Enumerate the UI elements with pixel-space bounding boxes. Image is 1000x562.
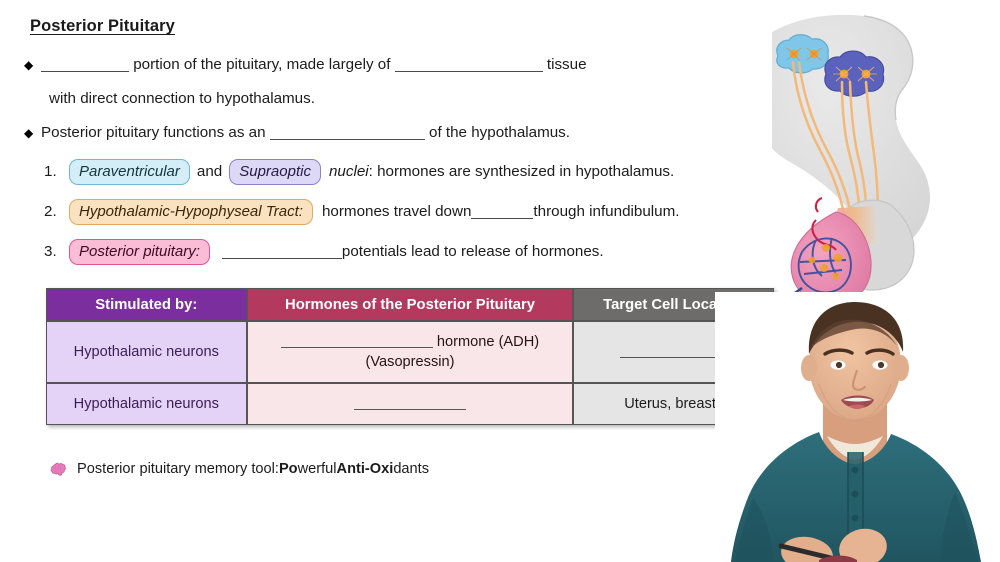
hormone-suffix: hormone (ADH) (433, 334, 539, 350)
blank-line (270, 127, 425, 140)
memory-tool-plain-1: werful (298, 461, 337, 477)
cell-stimulated-by: Hypothalamic neurons (46, 383, 247, 425)
numbered-1-tail: : hormones are synthesized in hypothalam… (369, 155, 675, 189)
bullet-1-mid: portion of the pituitary, made largely o… (129, 56, 395, 73)
page-title: Posterior Pituitary (30, 17, 175, 36)
memory-tool-bold-2: Anti-Oxi (337, 461, 394, 477)
bullet-2-text: Posterior pituitary functions as an of t… (41, 116, 784, 150)
numbered-item-1: 1. Paraventricular and Supraoptic nuclei… (24, 152, 784, 192)
joiner-and: and (197, 155, 222, 189)
bullet-1-line2: with direct connection to hypothalamus. (49, 90, 315, 107)
diamond-bullet-icon: ◆ (24, 48, 41, 82)
table-header-hormones: Hormones of the Posterior Pituitary (247, 288, 574, 321)
memory-tool-line: Posterior pituitary memory tool: Po werf… (50, 461, 429, 477)
bullet-1-continuation: with direct connection to hypothalamus. (24, 82, 784, 116)
italic-nuclei: nuclei (329, 155, 369, 189)
pill-hypothalamic-hypophyseal-tract: Hypothalamic-Hypophyseal Tract: (69, 199, 313, 225)
bullet-item-1: ◆ portion of the pituitary, made largely… (24, 48, 784, 82)
blank-line (354, 398, 466, 410)
list-index: 2. (44, 195, 69, 229)
bullet-2-pre: Posterior pituitary functions as an (41, 124, 270, 141)
table-header-row: Stimulated by: Hormones of the Posterior… (46, 288, 774, 321)
paraventricular-nucleus (777, 35, 829, 73)
pill-paraventricular: Paraventricular (69, 159, 190, 185)
bullet-1-post: tissue (543, 56, 587, 73)
instructor-video (715, 292, 1000, 562)
numbered-list: 1. Paraventricular and Supraoptic nuclei… (24, 152, 784, 272)
diamond-bullet-icon: ◆ (24, 116, 41, 150)
numbered-item-3: 3. Posterior pituitary: potentials lead … (24, 232, 784, 272)
blank-line (222, 246, 342, 259)
blank-line (395, 59, 543, 72)
supraoptic-nucleus (825, 51, 884, 96)
hormone-second-line: (Vasopressin) (366, 354, 455, 370)
memory-tool-bold-1: Po (279, 461, 298, 477)
blank-line (471, 206, 533, 219)
numbered-2-tail-post: through infundibulum. (533, 195, 679, 229)
list-index: 1. (44, 155, 69, 189)
blank-line (620, 346, 728, 358)
numbered-item-2: 2. Hypothalamic-Hypophyseal Tract: hormo… (24, 192, 784, 232)
memory-tool-label: Posterior pituitary memory tool: (77, 461, 279, 477)
pill-posterior-pituitary: Posterior pituitary: (69, 239, 210, 265)
bullet-2-post: of the hypothalamus. (425, 124, 570, 141)
bullet-item-2: ◆ Posterior pituitary functions as an of… (24, 116, 784, 150)
cell-hormone-adh: hormone (ADH) (Vasopressin) (247, 321, 574, 383)
table-row: Hypothalamic neurons Uterus, breasts (46, 383, 774, 425)
cell-stimulated-by: Hypothalamic neurons (46, 321, 247, 383)
list-index: 3. (44, 235, 69, 269)
cell-hormone-oxytocin (247, 383, 574, 425)
brain-icon (50, 461, 70, 477)
numbered-3-tail-post: potentials lead to release of hormones. (342, 235, 604, 269)
bullet-1-text: portion of the pituitary, made largely o… (41, 48, 784, 82)
hypothalamus-pituitary-diagram (772, 12, 1000, 324)
memory-tool-plain-2: dants (393, 461, 429, 477)
blank-line (41, 59, 129, 72)
table-row: Hypothalamic neurons hormone (ADH) (Vaso… (46, 321, 774, 383)
posterior-pituitary-hormones-table: Stimulated by: Hormones of the Posterior… (46, 288, 774, 425)
numbered-2-tail-pre: hormones travel down (322, 195, 471, 229)
slide-body: ◆ portion of the pituitary, made largely… (24, 48, 784, 272)
table-header-stimulated-by: Stimulated by: (46, 288, 247, 321)
pill-supraoptic: Supraoptic (229, 159, 321, 185)
blank-line (281, 336, 433, 348)
